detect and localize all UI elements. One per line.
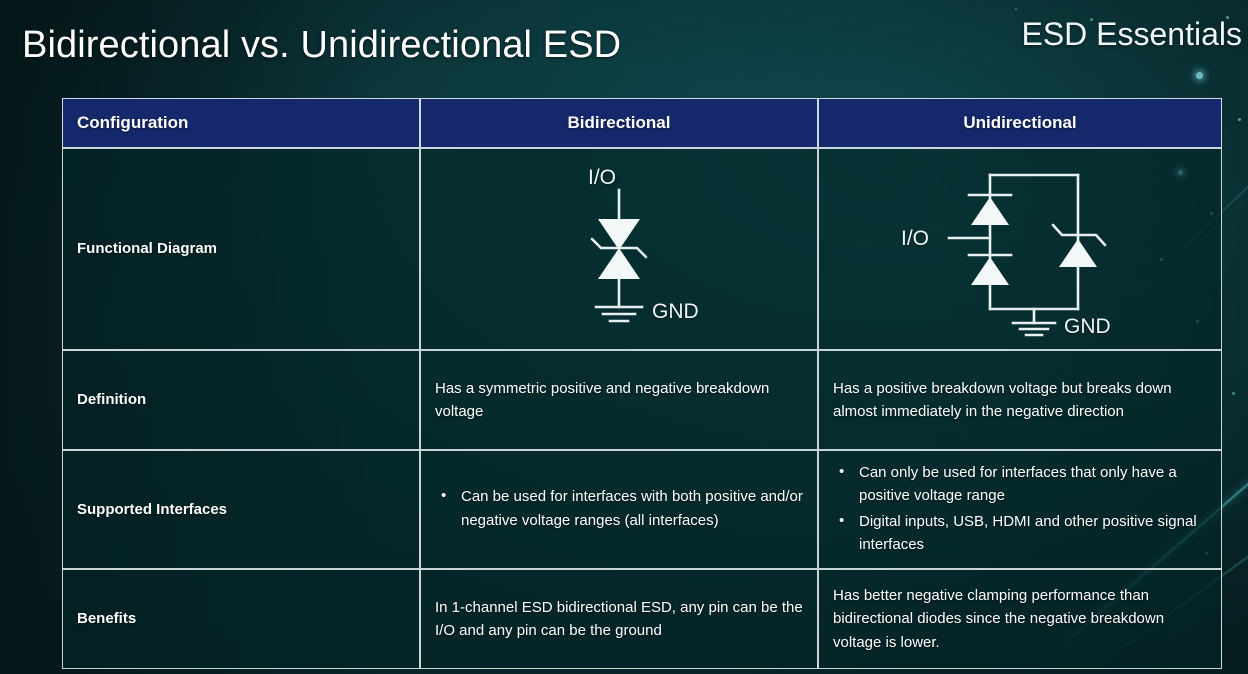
unidirectional-diagram-cell: I/O — [818, 148, 1222, 350]
bidirectional-diagram-cell: I/O GN — [420, 148, 818, 350]
column-header-bidirectional: Bidirectional — [420, 98, 818, 148]
io-label-unidirectional: I/O — [901, 227, 929, 250]
bullet-list-bidirectional: Can be used for interfaces with both pos… — [435, 485, 805, 532]
row-label-supported-interfaces: Supported Interfaces — [62, 450, 420, 569]
list-item: Can be used for interfaces with both pos… — [439, 485, 805, 532]
comparison-table: Configuration Bidirectional Unidirection… — [62, 98, 1222, 669]
row-label-definition: Definition — [62, 350, 420, 450]
column-header-configuration: Configuration — [62, 98, 420, 148]
gnd-label-bidirectional: GND — [652, 300, 699, 323]
table-header-row: Configuration Bidirectional Unidirection… — [62, 98, 1222, 148]
benefits-unidirectional: Has better negative clamping performance… — [818, 569, 1222, 669]
gnd-label-unidirectional: GND — [1064, 315, 1111, 338]
definition-unidirectional: Has a positive breakdown voltage but bre… — [818, 350, 1222, 450]
row-label-functional-diagram: Functional Diagram — [62, 148, 420, 350]
list-item: Digital inputs, USB, HDMI and other posi… — [837, 510, 1209, 557]
bullet-list-unidirectional: Can only be used for interfaces that onl… — [833, 461, 1209, 556]
benefits-bidirectional: In 1-channel ESD bidirectional ESD, any … — [420, 569, 818, 669]
io-label-bidirectional: I/O — [588, 166, 616, 189]
supported-interfaces-unidirectional: Can only be used for interfaces that onl… — [818, 450, 1222, 569]
bidirectional-tvs-symbol: I/O GN — [504, 157, 734, 342]
table-row: Definition Has a symmetric positive and … — [62, 350, 1222, 450]
brand-label: ESD Essentials — [1021, 16, 1242, 53]
table-row: Supported Interfaces Can be used for int… — [62, 450, 1222, 569]
supported-interfaces-bidirectional: Can be used for interfaces with both pos… — [420, 450, 818, 569]
table-header: Configuration Bidirectional Unidirection… — [62, 98, 1222, 148]
table-row: Functional Diagram I/O — [62, 148, 1222, 350]
list-item: Can only be used for interfaces that onl… — [837, 461, 1209, 508]
column-header-unidirectional: Unidirectional — [818, 98, 1222, 148]
table-row: Benefits In 1-channel ESD bidirectional … — [62, 569, 1222, 669]
row-label-benefits: Benefits — [62, 569, 420, 669]
page-title: Bidirectional vs. Unidirectional ESD — [22, 24, 621, 67]
unidirectional-tvs-symbol: I/O — [893, 157, 1148, 342]
definition-bidirectional: Has a symmetric positive and negative br… — [420, 350, 818, 450]
